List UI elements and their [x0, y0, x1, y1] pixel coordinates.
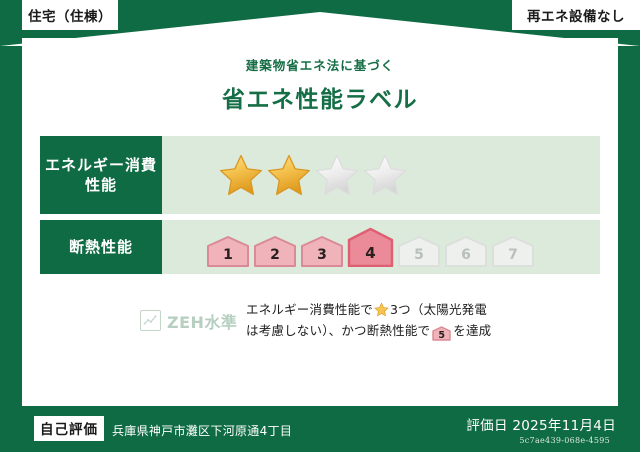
insulation-level-6: 6 — [444, 235, 488, 267]
zeh-desc-line2-b: を達成 — [453, 323, 491, 338]
energy-performance-row-label: エネルギー消費性能 — [40, 136, 162, 214]
insulation-level-3-value: 3 — [317, 248, 327, 267]
renewable-equipment-tag: 再エネ設備なし — [512, 0, 640, 30]
title-block: 建築物省エネ法に基づく 省エネ性能ラベル — [22, 38, 618, 114]
insulation-level-5: 5 — [397, 235, 441, 267]
insulation-level-5-value: 5 — [414, 248, 424, 267]
chart-box-icon — [140, 310, 161, 331]
insulation-performance-scale: 1 2 3 — [162, 220, 600, 274]
insulation-level-7-value: 7 — [508, 248, 518, 267]
energy-performance-label: 住宅（住棟） 再エネ設備なし 建築物省エネ法に基づく 省エネ性能ラベル エネルギ… — [0, 0, 640, 452]
star-icon-empty-4 — [362, 152, 408, 198]
building-type-tag: 住宅（住棟） — [22, 0, 118, 30]
performance-rows: エネルギー消費性能 — [40, 136, 600, 274]
star-icon-empty-3 — [314, 152, 360, 198]
insulation-level-2: 2 — [253, 235, 297, 267]
zeh-description: エネルギー消費性能で3つ（太陽光発電 は考慮しない）、かつ断熱性能で5を達成 — [246, 300, 491, 341]
zeh-desc-line1-b: 3つ（太陽光発電 — [390, 302, 487, 317]
self-evaluation-badge: 自己評価 — [34, 416, 104, 441]
zeh-desc-level-badge: 5 — [432, 326, 451, 341]
zeh-desc-line2-a: は考慮しない）、かつ断熱性能で — [246, 323, 430, 338]
renewable-equipment-label: 再エネ設備なし — [527, 5, 625, 25]
footer-right-group: 評価日 2025年11月4日 5c7ae439-068e-4595 — [466, 414, 616, 445]
insulation-level-6-value: 6 — [461, 248, 471, 267]
zeh-badge-label: ZEH水準 — [167, 309, 237, 333]
insulation-level-4-value: 4 — [365, 246, 375, 267]
zeh-standard-note: ZEH水準 エネルギー消費性能で3つ（太陽光発電 は考慮しない）、かつ断熱性能で… — [140, 300, 618, 341]
insulation-level-7: 7 — [491, 235, 535, 267]
insulation-level-1-value: 1 — [223, 248, 233, 267]
property-address: 兵庫県神戸市灘区下河原通4丁目 — [112, 419, 292, 439]
insulation-level-3: 3 — [300, 235, 344, 267]
energy-performance-row: エネルギー消費性能 — [40, 136, 600, 214]
label-card: 建築物省エネ法に基づく 省エネ性能ラベル エネルギー消費性能 — [22, 38, 618, 406]
insulation-level-2-value: 2 — [270, 248, 280, 267]
zeh-desc-level-value: 5 — [432, 326, 451, 345]
evaluation-date: 評価日 2025年11月4日 — [466, 414, 616, 434]
zeh-desc-line1-a: エネルギー消費性能で — [246, 302, 373, 317]
star-icon-filled-2 — [266, 152, 312, 198]
insulation-level-4-current: 4 — [347, 227, 394, 267]
title-subtitle: 建築物省エネ法に基づく — [22, 55, 618, 74]
star-icon-inline — [374, 302, 389, 317]
footer-left-group: 自己評価 兵庫県神戸市灘区下河原通4丁目 — [34, 416, 292, 441]
building-type-label: 住宅（住棟） — [28, 5, 112, 25]
label-footer: 自己評価 兵庫県神戸市灘区下河原通4丁目 評価日 2025年11月4日 5c7a… — [0, 406, 640, 452]
evaluation-id: 5c7ae439-068e-4595 — [466, 436, 610, 445]
energy-performance-stars — [162, 136, 600, 214]
insulation-performance-row: 断熱性能 1 2 — [40, 220, 600, 274]
insulation-level-list: 1 2 3 — [206, 227, 535, 267]
insulation-level-1: 1 — [206, 235, 250, 267]
insulation-performance-row-label: 断熱性能 — [40, 220, 162, 274]
zeh-badge: ZEH水準 — [140, 309, 246, 333]
page-title: 省エネ性能ラベル — [22, 80, 618, 114]
star-icon-filled-1 — [218, 152, 264, 198]
